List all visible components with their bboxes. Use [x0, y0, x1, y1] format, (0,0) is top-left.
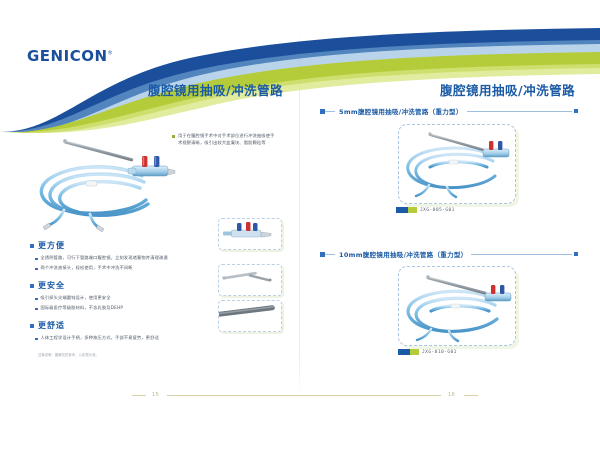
feature-bullet-icon [30, 284, 34, 288]
heading-rule-long [471, 254, 572, 255]
heading-rule-short [325, 111, 335, 112]
feature-item-text: 人体工程学设计手柄，多种按压方式，手部不易疲劳，更舒适 [41, 335, 159, 341]
list-bullet-icon [35, 308, 38, 311]
footnote-text: 注释说明：图解仅供参考，以实物为准。 [38, 352, 99, 357]
trademark-symbol: ® [108, 51, 114, 57]
product-2-name: 10mm腹腔镜用抽吸/冲洗管路（重力型） [335, 249, 471, 259]
catalog-spread: GENICON® 腹腔镜用抽吸/冲洗管路 腹腔镜用抽吸/冲洗管路 [0, 0, 600, 450]
footer-rule-right [305, 395, 441, 396]
product-2-image-frame [398, 266, 516, 346]
product-1-name: 5mm腹腔镜用抽吸/冲洗管路（重力型） [335, 106, 467, 116]
genicon-chip-icon [396, 207, 417, 213]
list-bullet-icon [35, 298, 38, 301]
product-1-code-badge: JXG-005-G01 [396, 207, 455, 213]
thumbnail-tube [218, 300, 282, 332]
footer-rule-left [167, 395, 305, 396]
feature-heading-text: 更方便 [38, 240, 65, 251]
left-page-title: 腹腔镜用抽吸/冲洗管路 [148, 80, 283, 99]
brand-logo: GENICON® [27, 46, 113, 65]
feature-item: 吸引探头尖端圆钝设计，使用更安全 [30, 295, 220, 301]
feature-item-text: 吸引探头尖端圆钝设计，使用更安全 [41, 295, 111, 301]
feature-bullet-icon [30, 324, 34, 328]
thumbnail-probe-tips [218, 264, 282, 296]
footer-rule-right-cap [464, 395, 478, 396]
thumbnail-valve-handle [218, 218, 282, 250]
feature-group-safety: 更安全 吸引探头尖端圆钝设计，使用更安全 国际级医疗等级胶材料，不含乳胶及DEH… [30, 280, 220, 316]
intro-text: 用于在腹腔镜手术中对手术部位进行冲洗抽吸使手术视野清晰，吸引出较大血凝块、脂肪颗… [178, 132, 276, 147]
product-1-heading: 5mm腹腔镜用抽吸/冲洗管路（重力型） [320, 106, 578, 116]
genicon-chip-icon [398, 349, 419, 355]
intro-block: 用于在腹腔镜手术中对手术部位进行冲洗抽吸使手术视野清晰，吸引出较大血凝块、脂肪颗… [172, 132, 276, 147]
feature-item: 两个冲洗液接头，轻松使用，手术中冲洗不间断 [30, 265, 220, 271]
product-2-code-badge: JXG-010-G01 [398, 349, 457, 355]
feature-heading: 更方便 [30, 240, 220, 251]
intro-bullet-icon [172, 135, 175, 138]
feature-heading: 更安全 [30, 280, 220, 291]
heading-rule-long [467, 111, 572, 112]
feature-group-comfort: 更舒适 人体工程学设计手柄，多种按压方式，手部不易疲劳，更舒适 [30, 320, 220, 345]
feature-item: 人体工程学设计手柄，多种按压方式，手部不易疲劳，更舒适 [30, 335, 220, 341]
product-2-heading: 10mm腹腔镜用抽吸/冲洗管路（重力型） [320, 249, 578, 259]
feature-heading-text: 更安全 [38, 280, 65, 291]
feature-item-text: 全透明管路，可行下管路端口腹腔镜，立刻发现堵塞物并清理疏通 [41, 255, 168, 261]
feature-bullet-icon [30, 244, 34, 248]
list-bullet-icon [35, 268, 38, 271]
list-bullet-icon [35, 338, 38, 341]
feature-heading-text: 更舒适 [38, 320, 65, 331]
product-2-code: JXG-010-G01 [422, 350, 457, 355]
brand-logo-text: GENICON [27, 47, 108, 65]
product-1-code: JXG-005-G01 [420, 208, 455, 213]
hero-product-image [24, 124, 176, 236]
feature-item-text: 两个冲洗液接头，轻松使用，手术中冲洗不间断 [41, 265, 133, 271]
heading-right-marker-icon [574, 252, 578, 256]
feature-item: 国际级医疗等级胶材料，不含乳胶及DEHP [30, 305, 220, 311]
feature-group-convenience: 更方便 全透明管路，可行下管路端口腹腔镜，立刻发现堵塞物并清理疏通 两个冲洗液接… [30, 240, 220, 276]
list-bullet-icon [35, 258, 38, 261]
heading-right-marker-icon [574, 109, 578, 113]
feature-item: 全透明管路，可行下管路端口腹腔镜，立刻发现堵塞物并清理疏通 [30, 255, 220, 261]
right-page-title: 腹腔镜用抽吸/冲洗管路 [440, 80, 575, 99]
feature-heading: 更舒适 [30, 320, 220, 331]
right-page-number: 16 [448, 392, 455, 398]
feature-item-text: 国际级医疗等级胶材料，不含乳胶及DEHP [41, 305, 124, 311]
left-page-number: 15 [152, 392, 159, 398]
heading-rule-short [325, 254, 335, 255]
footer-rule-left-cap [132, 395, 146, 396]
product-1-image-frame [398, 124, 516, 204]
